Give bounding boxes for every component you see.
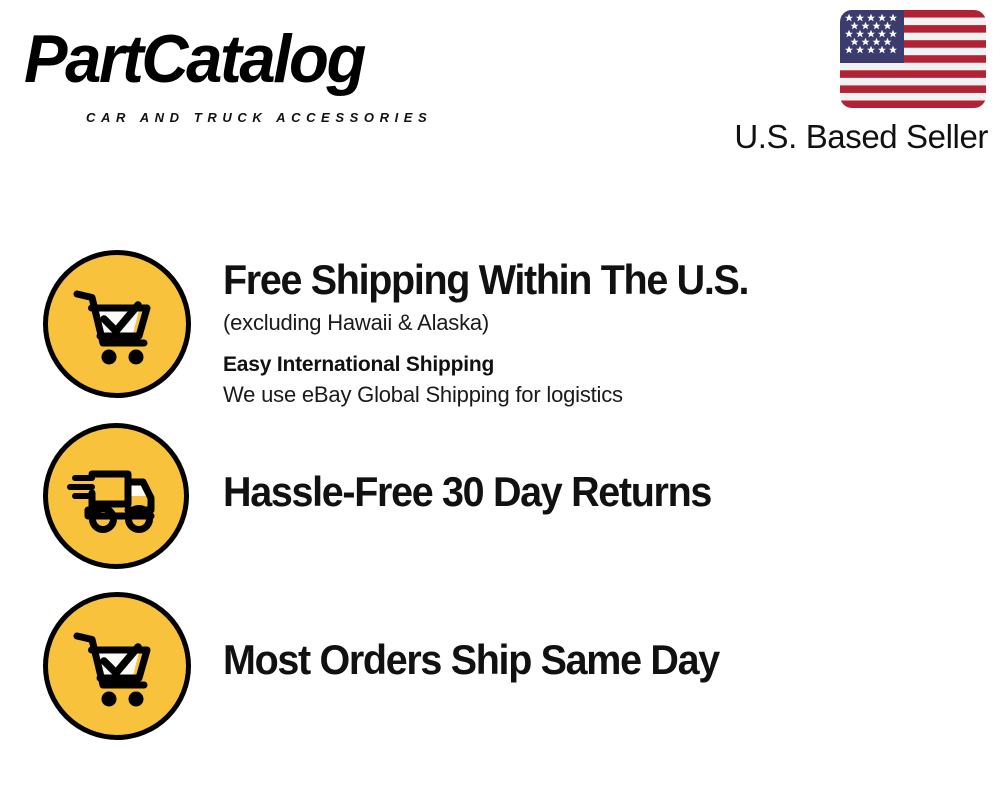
feature-sub-note: We use eBay Global Shipping for logistic… bbox=[223, 380, 980, 410]
feature-text-returns: Hassle-Free 30 Day Returns bbox=[223, 468, 980, 516]
feature-row-returns: Hassle-Free 30 Day Returns bbox=[0, 421, 1000, 571]
us-flag-icon bbox=[840, 10, 986, 108]
feature-note: (excluding Hawaii & Alaska) bbox=[223, 308, 980, 338]
brand-wordmark: PartCatalog bbox=[24, 20, 364, 98]
feature-sub-heading: Easy International Shipping bbox=[223, 350, 980, 380]
feature-heading: Hassle-Free 30 Day Returns bbox=[223, 468, 935, 516]
feature-row-same-day-shipping: Most Orders Ship Same Day bbox=[0, 591, 1000, 743]
feature-heading: Most Orders Ship Same Day bbox=[223, 636, 935, 684]
us-based-seller-label: U.S. Based Seller bbox=[734, 118, 988, 156]
page-header: PartCatalog CAR AND TRUCK ACCESSORIES bbox=[0, 0, 1000, 170]
brand-tagline: CAR AND TRUCK ACCESSORIES bbox=[86, 110, 432, 126]
shopping-cart-check-icon bbox=[43, 592, 191, 740]
feature-heading: Free Shipping Within The U.S. bbox=[223, 256, 935, 304]
shopping-cart-check-icon bbox=[43, 250, 191, 398]
feature-text-free-shipping: Free Shipping Within The U.S. (excluding… bbox=[223, 256, 980, 410]
feature-row-free-shipping: Free Shipping Within The U.S. (excluding… bbox=[0, 248, 1000, 408]
brand-logo[interactable]: PartCatalog CAR AND TRUCK ACCESSORIES bbox=[24, 20, 494, 120]
feature-text-same-day: Most Orders Ship Same Day bbox=[223, 636, 980, 684]
delivery-truck-icon bbox=[43, 423, 189, 569]
